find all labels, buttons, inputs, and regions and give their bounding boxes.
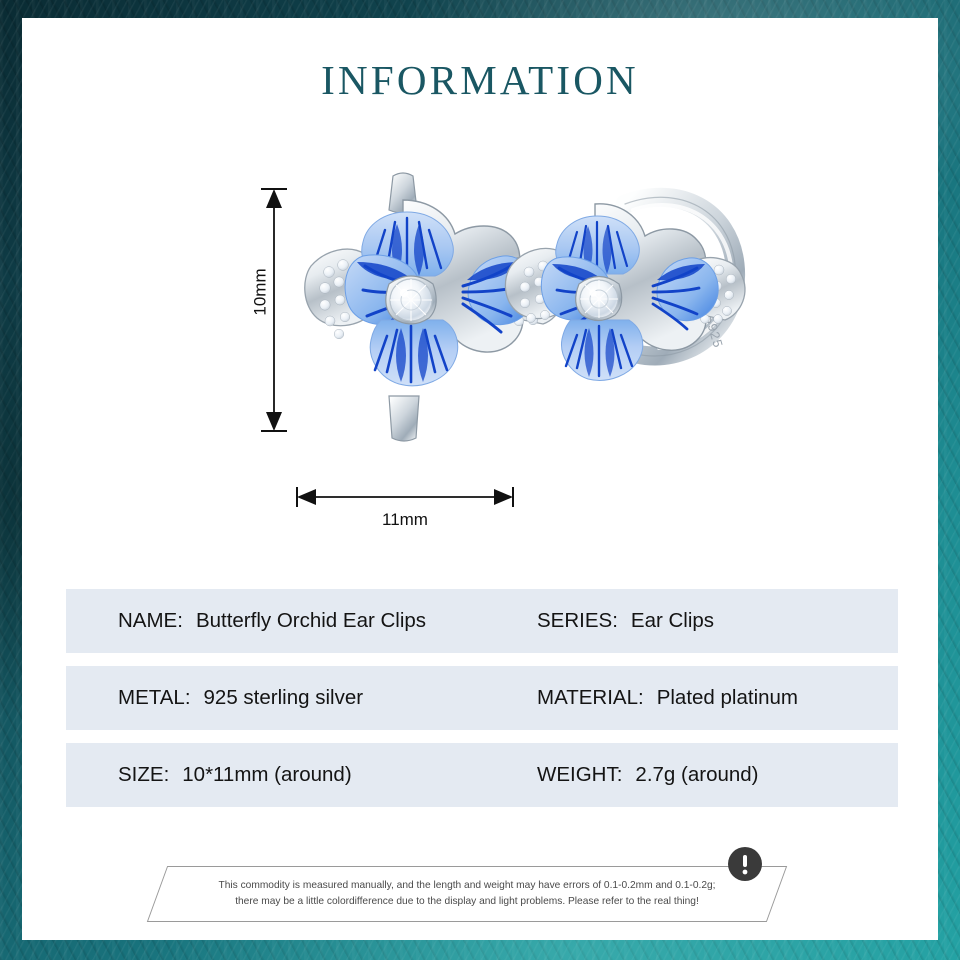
page-title: INFORMATION (22, 56, 938, 104)
spec-cell-metal: METAL: 925 sterling silver (118, 686, 363, 710)
spec-value: 10*11mm (around) (182, 763, 351, 787)
spec-cell-size: SIZE: 10*11mm (around) (118, 763, 352, 787)
information-card: INFORMATION (22, 18, 938, 940)
spec-value: Ear Clips (631, 609, 714, 633)
spec-value: Butterfly Orchid Ear Clips (196, 609, 426, 633)
table-row: METAL: 925 sterling silver MATERIAL: Pla… (66, 666, 898, 730)
spec-label: SIZE: (118, 763, 169, 787)
table-row: SIZE: 10*11mm (around) WEIGHT: 2.7g (aro… (66, 743, 898, 807)
spec-value: Plated platinum (657, 686, 798, 710)
spec-label: MATERIAL: (537, 686, 644, 710)
dimension-height: 10mm (243, 186, 289, 434)
spec-label: METAL: (118, 686, 191, 710)
table-row: NAME: Butterfly Orchid Ear Clips SERIES:… (66, 589, 898, 653)
spec-cell-weight: WEIGHT: 2.7g (around) (537, 763, 759, 787)
spec-cell-name: NAME: Butterfly Orchid Ear Clips (118, 609, 426, 633)
dimension-height-label: 10mm (251, 268, 271, 315)
disclaimer-line-2: there may be a little colordifference du… (235, 894, 699, 910)
exclamation-icon (728, 847, 762, 881)
specification-table: NAME: Butterfly Orchid Ear Clips SERIES:… (66, 589, 898, 820)
disclaimer-banner: This commodity is measured manually, and… (157, 866, 777, 922)
spec-cell-series: SERIES: Ear Clips (537, 609, 714, 633)
spec-label: NAME: (118, 609, 183, 633)
product-information-page: INFORMATION (0, 0, 960, 960)
dimension-width: 11mm (294, 484, 516, 538)
product-image: S925 (267, 168, 787, 458)
disclaimer-line-1: This commodity is measured manually, and… (219, 878, 716, 894)
spec-label: SERIES: (537, 609, 618, 633)
spec-cell-material: MATERIAL: Plated platinum (537, 686, 798, 710)
spec-value: 925 sterling silver (204, 686, 364, 710)
spec-label: WEIGHT: (537, 763, 622, 787)
disclaimer-text: This commodity is measured manually, and… (157, 866, 777, 922)
spec-value: 2.7g (around) (635, 763, 758, 787)
dimension-width-label: 11mm (294, 510, 516, 530)
